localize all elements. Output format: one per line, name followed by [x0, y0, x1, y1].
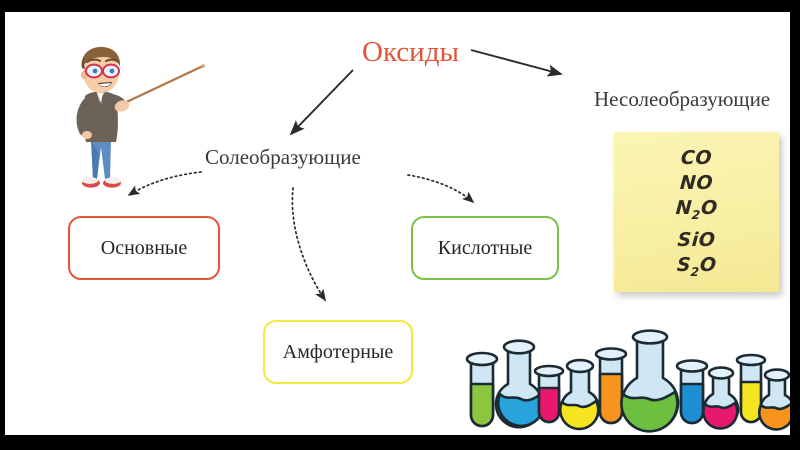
arrow-salt-forming-to-amphoteric: [292, 188, 325, 300]
flask-blue-icon: [496, 341, 544, 428]
slide-canvas: Оксиды Солеобразующие Несолеобразующие О…: [5, 12, 790, 435]
box-amphoteric-oxides-label: Амфотерные: [283, 341, 393, 364]
formula-item: CO: [613, 146, 780, 171]
flask-green-large-icon: [621, 331, 678, 432]
node-non-salt-forming-title: Несолеобразующие: [594, 89, 770, 110]
arrow-oxides-to-non-salt-forming: [471, 50, 561, 74]
teacher-head: [81, 47, 120, 93]
box-acidic-oxides[interactable]: Кислотные: [411, 216, 559, 280]
node-salt-forming-title: Солеобразующие: [205, 147, 361, 168]
laboratory-glassware-illustration: [445, 312, 790, 435]
test-tube-green-icon: [467, 353, 497, 426]
box-amphoteric-oxides[interactable]: Амфотерные: [263, 320, 413, 384]
pointer-stick-icon: [118, 64, 205, 106]
teacher-with-pointer-illustration: [60, 44, 205, 204]
box-basic-oxides[interactable]: Основные: [68, 216, 220, 280]
teacher-legs: [91, 140, 111, 179]
arrow-salt-forming-to-acidic: [408, 175, 473, 202]
flask-yellow-icon: [560, 360, 599, 429]
arrow-oxides-to-salt-forming: [291, 70, 353, 134]
sticky-note-non-salt-forming: CO NO N2O SiO S2O: [614, 132, 779, 292]
slide-frame: Оксиды Солеобразующие Несолеобразующие О…: [0, 0, 800, 450]
formula-item: N2O: [613, 196, 780, 228]
teacher-shoes: [82, 177, 121, 187]
test-tube-pink-icon: [535, 366, 563, 422]
formula-item: S2O: [613, 253, 780, 285]
node-oxides-title: Оксиды: [362, 38, 459, 67]
box-acidic-oxides-label: Кислотные: [438, 237, 532, 260]
formula-item: SiO: [613, 228, 780, 253]
formula-item: NO: [613, 171, 780, 196]
flask-pink-icon: [703, 368, 738, 429]
box-basic-oxides-label: Основные: [101, 237, 187, 260]
flask-orange-icon: [759, 370, 790, 430]
sticky-note-formula-list: CO NO N2O SiO S2O: [614, 146, 779, 285]
